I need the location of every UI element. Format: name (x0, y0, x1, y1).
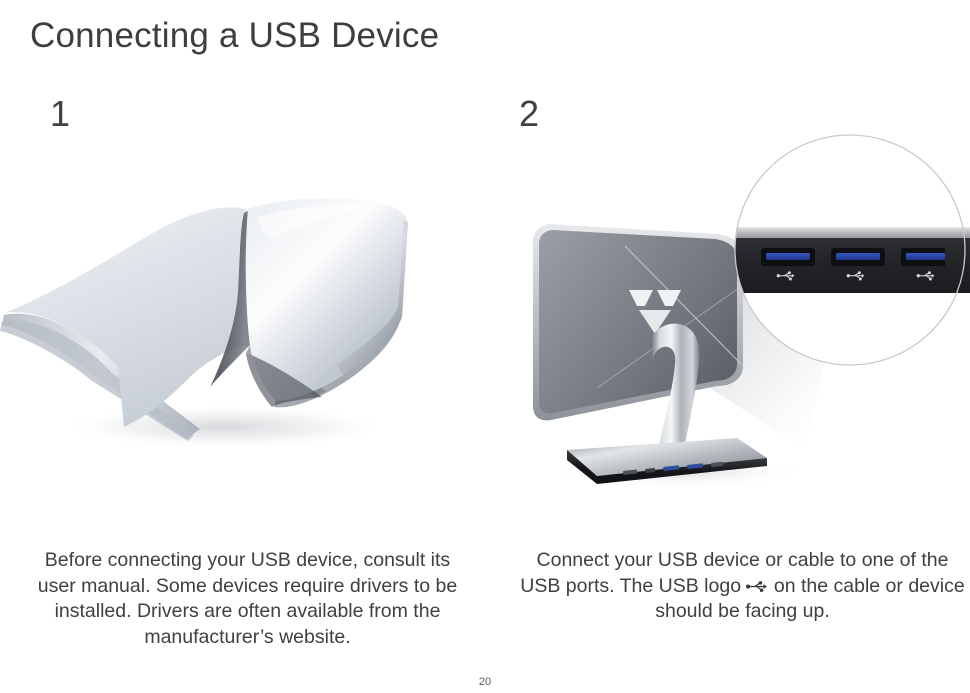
monitor-usb-illustration (505, 120, 970, 500)
book-left-page (4, 207, 250, 427)
step-2-caption: Connect your USB device or cable to one … (515, 548, 970, 625)
step-number-1: 1 (50, 96, 70, 132)
callout-magnified-content (735, 135, 970, 365)
open-book-graphic (0, 195, 410, 460)
page-number: 20 (0, 676, 970, 688)
step-2-column (485, 140, 970, 540)
page-title: Connecting a USB Device (30, 16, 439, 56)
port-panel-silver-bar (735, 227, 970, 238)
port-panel-silver-overflow (945, 227, 970, 238)
step-1-caption: Before connecting your USB device, consu… (25, 548, 470, 650)
usb-logo-icon (746, 575, 768, 588)
monitor-graphic (505, 120, 970, 500)
manual-page: Connecting a USB Device 1 (0, 0, 970, 693)
step-1-column (0, 140, 485, 540)
port-panel-strip-overflow (945, 238, 970, 293)
book-shadow (60, 405, 390, 449)
open-book-illustration (0, 195, 410, 460)
